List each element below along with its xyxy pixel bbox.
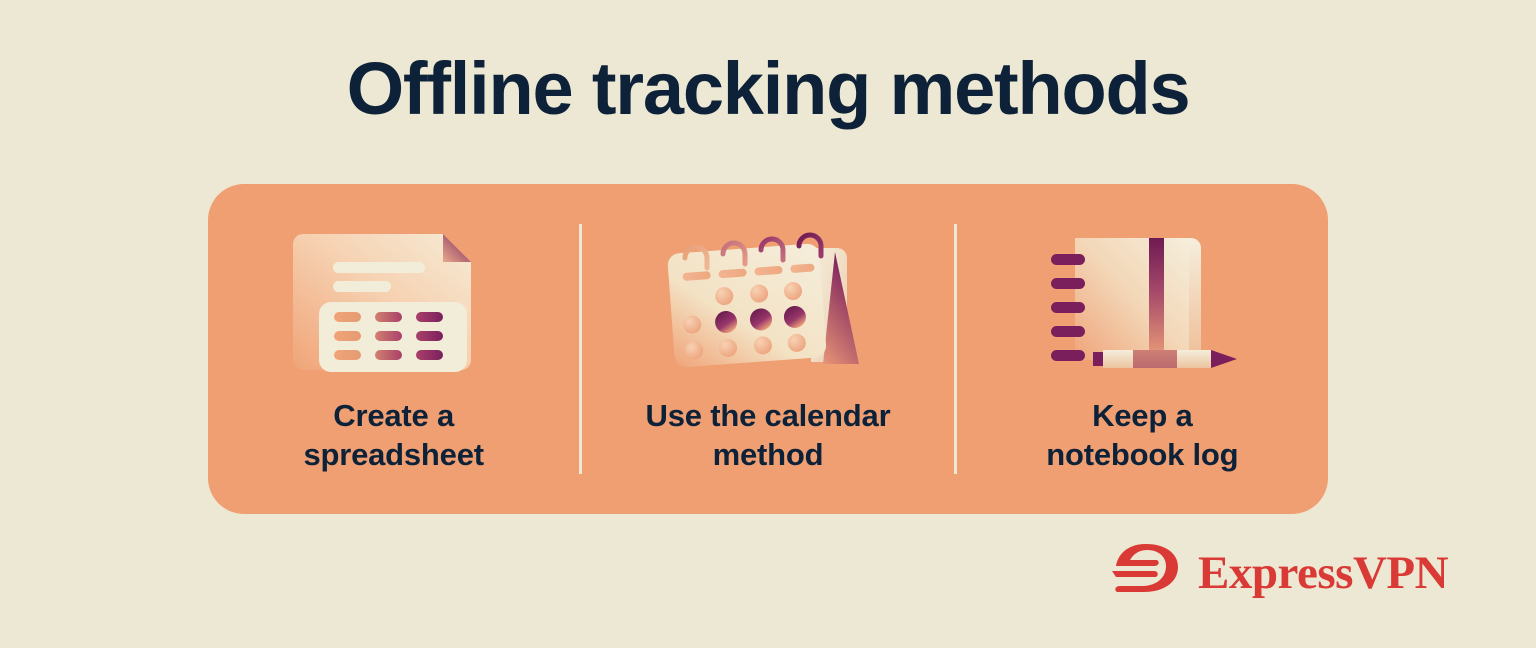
method-label-calendar: Use the calendar method — [646, 396, 891, 474]
method-column-notebook[interactable]: Keep a notebook log — [957, 184, 1328, 514]
notebook-icon — [1037, 224, 1247, 376]
method-column-spreadsheet[interactable]: Create a spreadsheet — [208, 184, 579, 514]
page-title: Offline tracking methods — [0, 52, 1536, 126]
spreadsheet-icon — [289, 224, 499, 376]
expressvpn-mark-icon — [1110, 542, 1184, 604]
method-column-calendar[interactable]: Use the calendar method — [582, 184, 953, 514]
calendar-icon — [663, 224, 873, 376]
expressvpn-wordmark: ExpressVPN — [1198, 550, 1448, 597]
methods-row: Create a spreadsheet — [208, 184, 1328, 514]
expressvpn-logo[interactable]: ExpressVPN — [1110, 536, 1440, 610]
methods-card: Create a spreadsheet — [208, 184, 1328, 514]
method-label-spreadsheet: Create a spreadsheet — [303, 396, 483, 474]
method-label-notebook: Keep a notebook log — [1046, 396, 1238, 474]
